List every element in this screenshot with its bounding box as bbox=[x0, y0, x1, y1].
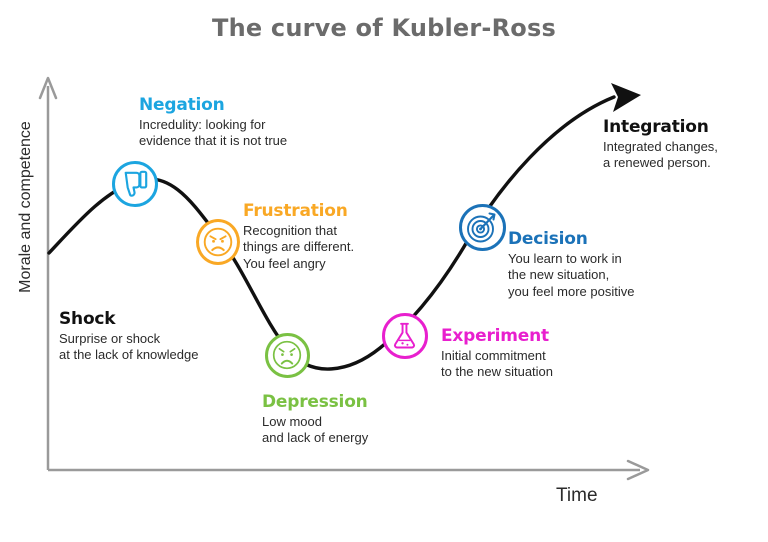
stage-desc-line: at the lack of knowledge bbox=[59, 347, 198, 364]
angry-face-icon bbox=[199, 222, 237, 262]
x-axis-label: Time bbox=[556, 485, 598, 507]
stage-integration: Integration Integrated changes, a renewe… bbox=[603, 118, 718, 172]
stage-desc-decision: You learn to work in the new situation, … bbox=[508, 251, 634, 301]
stage-desc-experiment: Initial commitment to the new situation bbox=[441, 348, 553, 381]
stage-experiment: Experiment Initial commitment to the new… bbox=[441, 327, 553, 381]
stage-desc-line: Surprise or shock bbox=[59, 331, 198, 348]
curve-and-axes-canvas bbox=[0, 0, 768, 542]
y-axis bbox=[40, 78, 56, 470]
stage-desc-line: You feel angry bbox=[243, 256, 354, 273]
stage-frustration: Frustration Recognition that things are … bbox=[243, 202, 354, 273]
x-axis bbox=[48, 461, 648, 479]
stage-desc-depression: Low mood and lack of energy bbox=[262, 414, 368, 447]
stage-desc-line: Integrated changes, bbox=[603, 139, 718, 156]
stage-desc-shock: Surprise or shock at the lack of knowled… bbox=[59, 331, 198, 364]
thumbs-down-icon bbox=[115, 164, 154, 203]
node-icon-negation[interactable] bbox=[112, 161, 158, 207]
stage-desc-line: and lack of energy bbox=[262, 430, 368, 447]
stage-title-experiment: Experiment bbox=[441, 327, 553, 346]
node-icon-decision[interactable] bbox=[459, 204, 506, 251]
stage-desc-negation: Incredulity: looking for evidence that i… bbox=[139, 117, 287, 150]
stage-desc-line: Recognition that bbox=[243, 223, 354, 240]
flask-icon bbox=[385, 316, 424, 355]
stage-depression: Depression Low mood and lack of energy bbox=[262, 393, 368, 447]
stage-title-integration: Integration bbox=[603, 118, 718, 137]
stage-desc-line: Initial commitment bbox=[441, 348, 553, 365]
stage-desc-frustration: Recognition that things are different. Y… bbox=[243, 223, 354, 273]
stage-desc-line: you feel more positive bbox=[508, 284, 634, 301]
stage-desc-line: Low mood bbox=[262, 414, 368, 431]
stage-desc-line: things are different. bbox=[243, 239, 354, 256]
stage-title-depression: Depression bbox=[262, 393, 368, 412]
stage-desc-line: the new situation, bbox=[508, 267, 634, 284]
sad-face-icon bbox=[268, 336, 306, 374]
node-icon-experiment[interactable] bbox=[382, 313, 428, 359]
stage-desc-line: evidence that it is not true bbox=[139, 133, 287, 150]
stage-title-frustration: Frustration bbox=[243, 202, 354, 221]
stage-title-negation: Negation bbox=[139, 96, 287, 115]
kubler-ross-diagram: The curve of Kubler-Ross Morale and comp… bbox=[0, 0, 768, 542]
stage-desc-line: a renewed person. bbox=[603, 155, 718, 172]
node-icon-depression[interactable] bbox=[265, 333, 310, 378]
node-icon-frustration[interactable] bbox=[196, 219, 240, 265]
stage-negation: Negation Incredulity: looking for eviden… bbox=[139, 96, 287, 150]
stage-desc-integration: Integrated changes, a renewed person. bbox=[603, 139, 718, 172]
stage-title-decision: Decision bbox=[508, 230, 634, 249]
stage-title-shock: Shock bbox=[59, 310, 198, 329]
stage-desc-line: to the new situation bbox=[441, 364, 553, 381]
stage-shock: Shock Surprise or shock at the lack of k… bbox=[59, 310, 198, 364]
stage-desc-line: You learn to work in bbox=[508, 251, 634, 268]
stage-desc-line: Incredulity: looking for bbox=[139, 117, 287, 134]
target-dart-icon bbox=[462, 207, 502, 247]
stage-decision: Decision You learn to work in the new si… bbox=[508, 230, 634, 301]
y-axis-label: Morale and competence bbox=[17, 107, 35, 307]
